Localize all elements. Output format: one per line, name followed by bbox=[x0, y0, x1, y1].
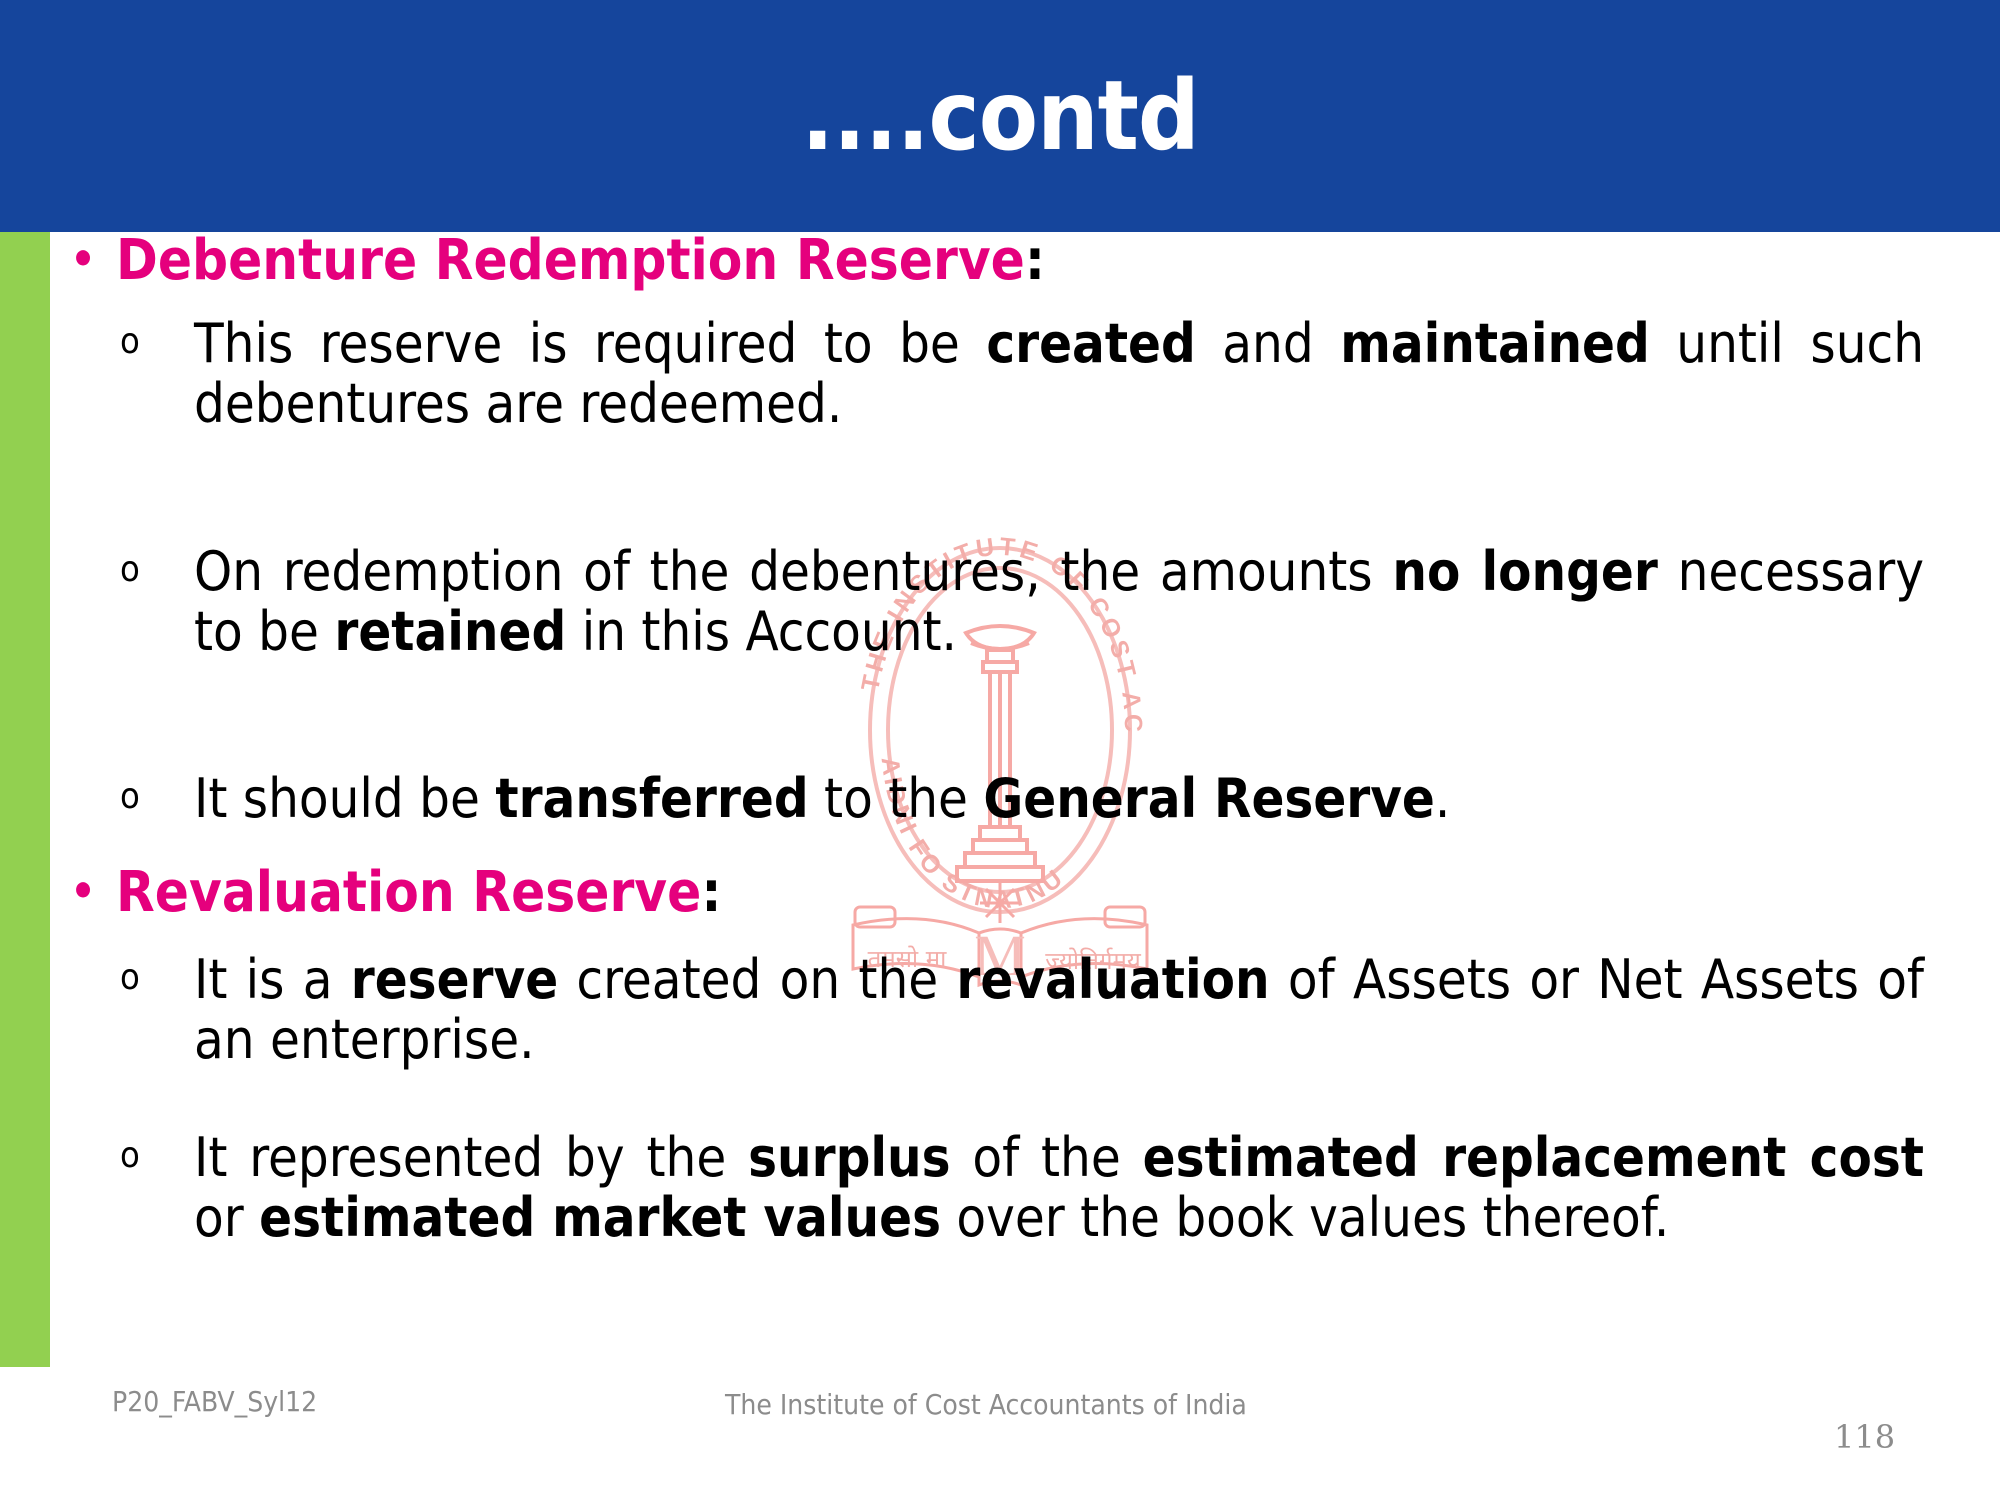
text-run: On redemption of the debentures, the amo… bbox=[194, 540, 1392, 603]
footer-organization: The Institute of Cost Accountants of Ind… bbox=[725, 1388, 1247, 1421]
text-run-bold: reserve bbox=[351, 948, 558, 1011]
footer-course-code: P20_FABV_Syl12 bbox=[112, 1385, 317, 1418]
sub-bullet-text: On redemption of the debentures, the amo… bbox=[194, 542, 1924, 663]
bullet-debenture-redemption-reserve: • Debenture Redemption Reserve: bbox=[50, 232, 1950, 290]
text-run: to the bbox=[809, 767, 984, 830]
text-run-bold: retained bbox=[334, 600, 566, 663]
sub-bullet-marker-icon: o bbox=[120, 769, 194, 825]
text-run-bold: no longer bbox=[1392, 540, 1658, 603]
sub-bullet-text: It represented by the surplus of the est… bbox=[194, 1128, 1924, 1249]
text-run-bold: created bbox=[986, 312, 1195, 375]
sub-bullet-marker-icon: o bbox=[120, 950, 194, 1006]
sub-bullet-no-longer-retained: o On redemption of the debentures, the a… bbox=[50, 542, 1924, 663]
sub-bullet-created-maintained: o This reserve is required to be created… bbox=[50, 314, 1924, 435]
sub-bullet-text: It should be transferred to the General … bbox=[194, 769, 1924, 829]
bullet-revaluation-reserve: • Revaluation Reserve: bbox=[50, 864, 1950, 922]
sub-bullet-marker-icon: o bbox=[120, 314, 194, 370]
text-run-bold: maintained bbox=[1340, 312, 1650, 375]
slide-body: • Debenture Redemption Reserve: o This r… bbox=[50, 232, 2000, 1367]
text-run: over the book values thereof. bbox=[941, 1186, 1669, 1249]
sub-bullet-marker-icon: o bbox=[120, 1128, 194, 1184]
text-run: created on the bbox=[558, 948, 956, 1011]
slide-118: ....contd THE INSTITUTE OF COST ACCO AID… bbox=[0, 0, 2000, 1500]
sub-bullet-transferred-general-reserve: o It should be transferred to the Genera… bbox=[50, 769, 1924, 829]
left-accent-bar bbox=[0, 232, 50, 1367]
slide-page-number: 118 bbox=[1834, 1418, 1895, 1456]
bullet-label-text: Debenture Redemption Reserve bbox=[116, 228, 1025, 293]
text-run: . bbox=[1435, 767, 1450, 830]
text-run-bold: surplus bbox=[748, 1126, 950, 1189]
text-run-bold: estimated market values bbox=[259, 1186, 941, 1249]
bullet-label-text: Revaluation Reserve bbox=[116, 860, 701, 925]
text-run: in this Account. bbox=[566, 600, 957, 663]
bullet-label-colon: : bbox=[1025, 228, 1045, 293]
text-run: It represented by the bbox=[194, 1126, 748, 1189]
sub-bullet-text: This reserve is required to be created a… bbox=[194, 314, 1924, 435]
bullet-marker-icon: • bbox=[50, 864, 116, 919]
bullet-label: Debenture Redemption Reserve: bbox=[116, 232, 1950, 290]
text-run: and bbox=[1196, 312, 1340, 375]
text-run: of the bbox=[951, 1126, 1143, 1189]
text-run-bold: General Reserve bbox=[983, 767, 1435, 830]
bullet-label-colon: : bbox=[701, 860, 721, 925]
text-run-bold: revaluation bbox=[956, 948, 1269, 1011]
sub-bullet-surplus-estimated-values: o It represented by the surplus of the e… bbox=[50, 1128, 1924, 1249]
text-run: This reserve is required to be bbox=[194, 312, 986, 375]
text-run-bold: transferred bbox=[495, 767, 808, 830]
bullet-marker-icon: • bbox=[50, 232, 116, 287]
text-run: It should be bbox=[194, 767, 495, 830]
text-run: or bbox=[194, 1186, 259, 1249]
sub-bullet-marker-icon: o bbox=[120, 542, 194, 598]
sub-bullet-text: It is a reserve created on the revaluati… bbox=[194, 950, 1924, 1071]
bullet-label: Revaluation Reserve: bbox=[116, 864, 1950, 922]
page-title: ....contd bbox=[0, 0, 2000, 232]
slide-header-band: ....contd bbox=[0, 0, 2000, 232]
sub-bullet-reserve-revaluation: o It is a reserve created on the revalua… bbox=[50, 950, 1924, 1071]
text-run: It is a bbox=[194, 948, 351, 1011]
text-run-bold: estimated replacement cost bbox=[1143, 1126, 1924, 1189]
